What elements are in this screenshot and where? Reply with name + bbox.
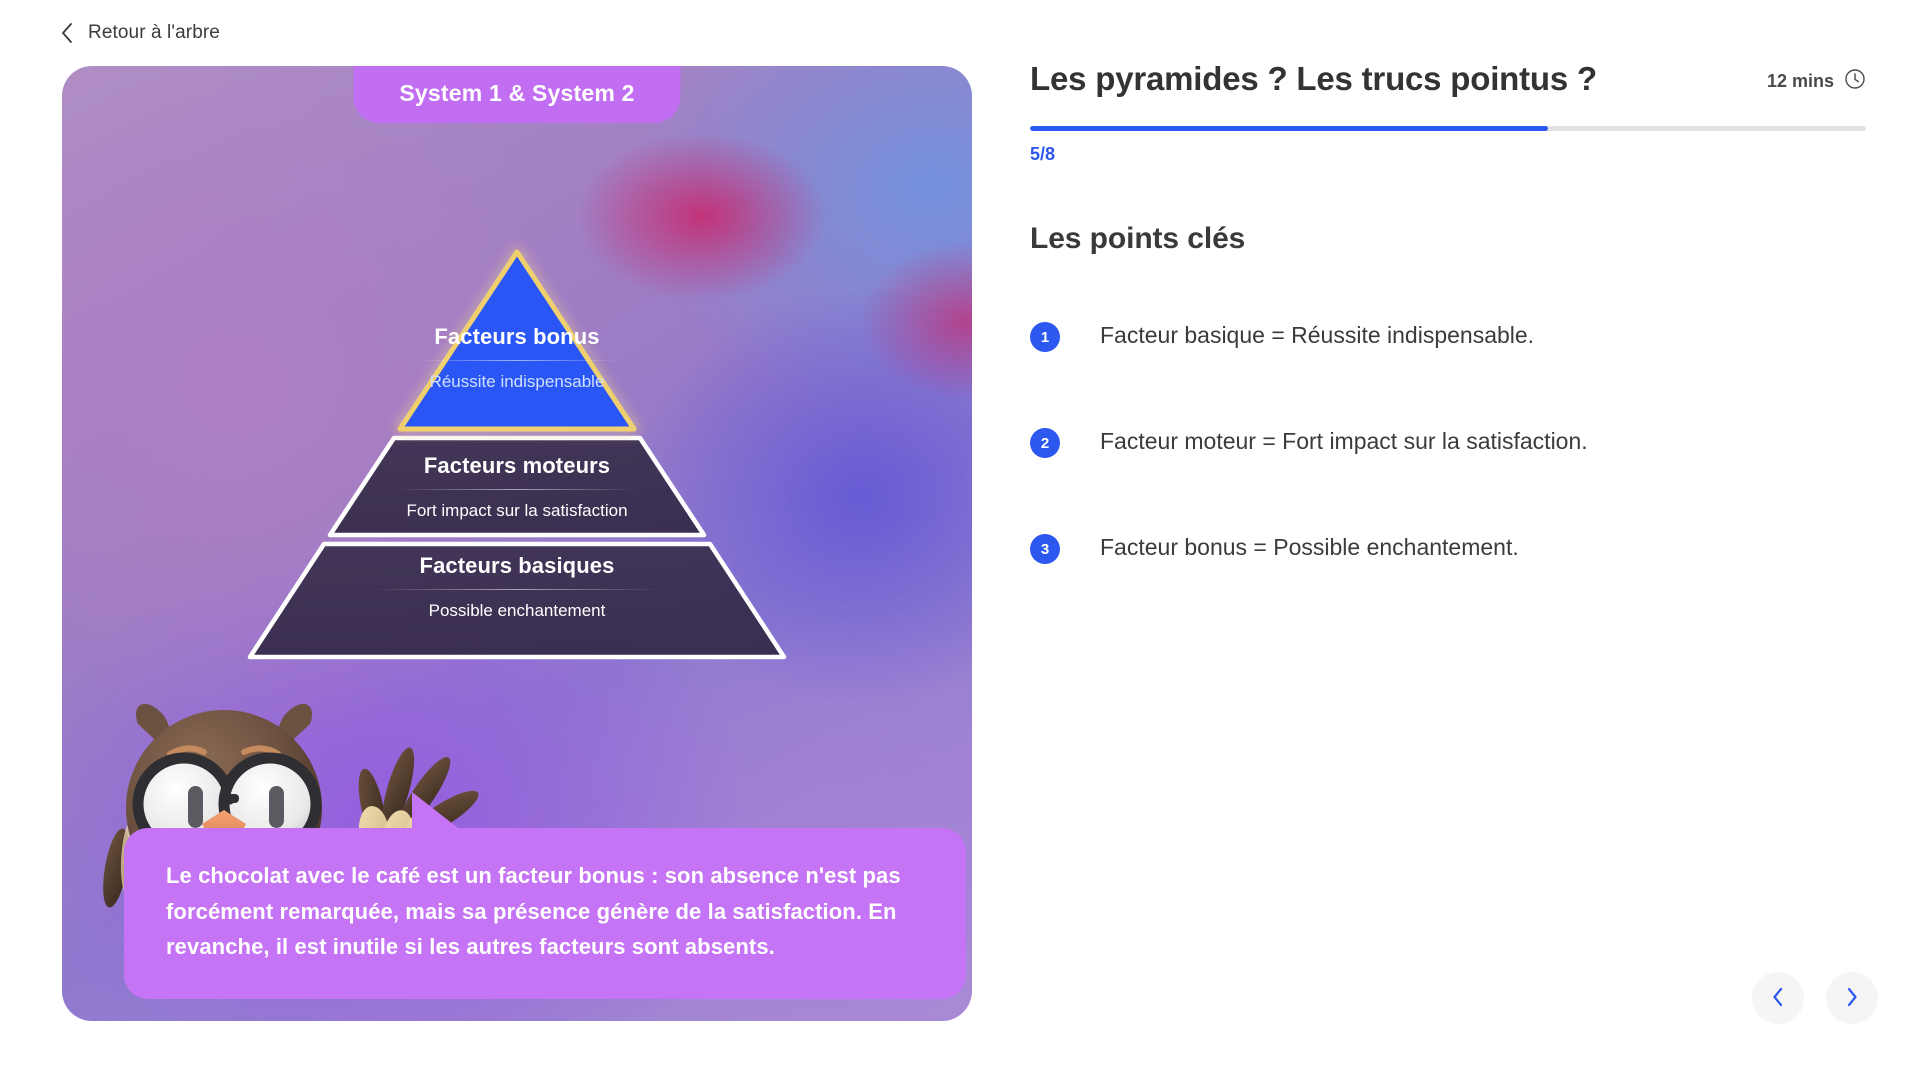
keypoint-text: Facteur moteur = Fort impact sur la sati… xyxy=(1100,426,1588,457)
mascot-caption-bubble: Le chocolat avec le café est un facteur … xyxy=(124,828,966,999)
caption-tail xyxy=(412,792,458,828)
pyramid-tier-moteurs xyxy=(330,438,704,535)
page-title: Les pyramides ? Les trucs pointus ? xyxy=(1030,60,1597,98)
keypoint-number: 2 xyxy=(1030,428,1060,458)
slide-navigation xyxy=(1752,972,1878,1024)
list-item: 3 Facteur bonus = Possible enchantement. xyxy=(1030,532,1866,564)
keypoint-number: 1 xyxy=(1030,322,1060,352)
tier-subtitle: Fort impact sur la satisfaction xyxy=(62,500,972,521)
list-item: 1 Facteur basique = Réussite indispensab… xyxy=(1030,320,1866,352)
pyramid-tier-basiques xyxy=(250,544,784,657)
chapter-badge: System 1 & System 2 xyxy=(353,66,680,123)
back-link-label: Retour à l'arbre xyxy=(88,22,220,44)
chevron-left-icon xyxy=(60,22,74,44)
lesson-detail-panel: Les pyramides ? Les trucs pointus ? 12 m… xyxy=(1030,0,1920,1080)
tier-subtitle: Possible enchantement xyxy=(62,600,972,621)
next-slide-button[interactable] xyxy=(1826,972,1878,1024)
pyramid-tier-basiques-labels: Facteurs basiques Possible enchantement xyxy=(62,553,972,621)
tier-divider xyxy=(373,589,661,590)
back-to-tree-link[interactable]: Retour à l'arbre xyxy=(60,22,220,44)
pyramid-tier-moteurs-labels: Facteurs moteurs Fort impact sur la sati… xyxy=(62,453,972,521)
tier-title: Facteurs moteurs xyxy=(62,453,972,479)
previous-slide-button[interactable] xyxy=(1752,972,1804,1024)
duration-label: 12 mins xyxy=(1767,71,1834,92)
chevron-left-icon xyxy=(1771,987,1785,1010)
lesson-progress-bar xyxy=(1030,126,1866,131)
lesson-illustration-card: System 1 & System 2 xyxy=(62,66,972,1021)
tier-divider xyxy=(412,360,622,361)
list-item: 2 Facteur moteur = Fort impact sur la sa… xyxy=(1030,426,1866,458)
lesson-header: Les pyramides ? Les trucs pointus ? 12 m… xyxy=(1030,60,1866,98)
tier-title: Facteurs bonus xyxy=(62,324,972,350)
pyramid-tier-bonus xyxy=(400,252,634,429)
lesson-duration: 12 mins xyxy=(1767,68,1866,95)
clock-icon xyxy=(1844,68,1866,95)
progress-fill xyxy=(1030,126,1548,131)
tier-title: Facteurs basiques xyxy=(62,553,972,579)
caption-text: Le chocolat avec le café est un facteur … xyxy=(166,858,924,965)
chevron-right-icon xyxy=(1845,987,1859,1010)
keypoints-list: 1 Facteur basique = Réussite indispensab… xyxy=(1030,320,1866,638)
keypoint-text: Facteur bonus = Possible enchantement. xyxy=(1100,532,1519,563)
keypoints-heading: Les points clés xyxy=(1030,222,1245,256)
progress-counter: 5/8 xyxy=(1030,144,1055,165)
pyramid-tier-bonus-labels: Facteurs bonus Réussite indispensable xyxy=(62,324,972,392)
tier-divider xyxy=(397,489,637,490)
keypoint-text: Facteur basique = Réussite indispensable… xyxy=(1100,320,1534,351)
keypoint-number: 3 xyxy=(1030,534,1060,564)
tier-subtitle: Réussite indispensable xyxy=(427,371,607,392)
